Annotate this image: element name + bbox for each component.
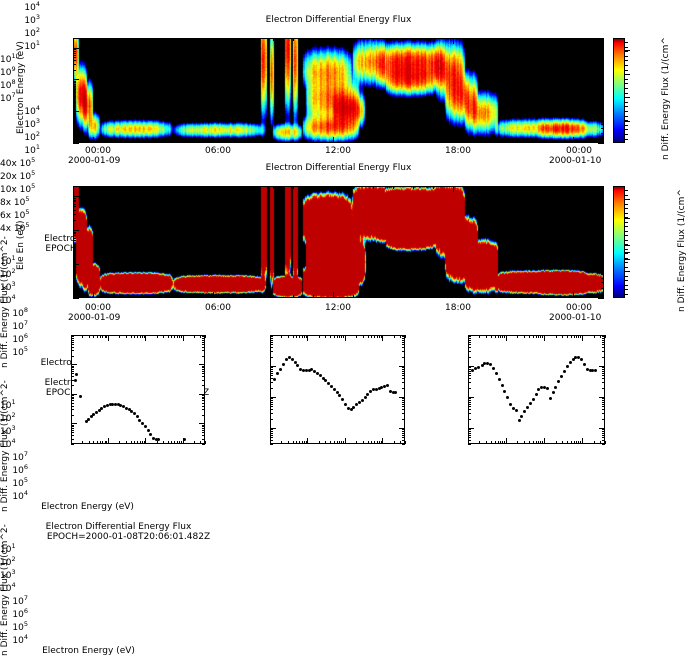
- data-point: [566, 365, 569, 368]
- mid-xtick-minor: [113, 295, 114, 298]
- mid-ytick-minor-tick-right: [601, 272, 604, 273]
- spectrum-3-xtick: [506, 438, 507, 444]
- mid-ytick-minor-tick-right: [601, 278, 604, 279]
- spectrum-3-xminor-top: [536, 335, 537, 338]
- spectrum-3-yminor: [468, 357, 471, 358]
- spectrum-1-yminor: [71, 336, 74, 337]
- data-point: [489, 363, 492, 366]
- spectrum-3-yminor-right: [602, 388, 605, 389]
- spectrum-2-yminor: [270, 419, 273, 420]
- spectrum-1-xminor-top: [89, 335, 90, 338]
- top-xtick-minor: [573, 140, 574, 143]
- spectrum-1-yminor: [71, 369, 74, 370]
- mid-ytick-minor-tick: [73, 235, 76, 236]
- top-colorbar-minor-tick: [625, 51, 628, 52]
- spectrum-3-yminor: [468, 419, 471, 420]
- spectrum-2-xminor-top: [394, 335, 395, 338]
- mid-xtick-minor-top: [213, 186, 214, 189]
- spectrum-1-plot[interactable]: [71, 335, 205, 444]
- top-ytick-minor-tick: [73, 70, 76, 71]
- spectrum-1-xminor: [93, 441, 94, 444]
- spectrum-3-yminor-right: [602, 404, 605, 405]
- spectrum-3-xminor-top: [495, 335, 496, 338]
- spectrum-3-yminor-right: [602, 369, 605, 370]
- spectrum-2-yminor-right: [402, 431, 405, 432]
- spectrum-2-yminor: [270, 375, 273, 376]
- mid-ytick-minor-tick: [73, 278, 76, 279]
- spectrum-3-xminor-top: [486, 335, 487, 338]
- top-colorbar-minor-tick: [625, 139, 628, 140]
- mid-xaxis-date-right: 2000-01-10: [549, 313, 601, 323]
- top-ytick-minor-tick-right: [601, 70, 604, 71]
- spectrum-3-yminor: [468, 375, 471, 376]
- spectrum-2-yminor-right: [402, 336, 405, 337]
- spectrum-1-xminor-top: [194, 335, 195, 338]
- mid-xtick-label-2: 12:00: [325, 303, 351, 313]
- spectrum-3-xminor-top: [540, 335, 541, 338]
- spectrum-2-xminor-top: [319, 335, 320, 338]
- spectrum-3-yminor-right: [602, 338, 605, 339]
- spectrum-3-xminor-top: [517, 335, 518, 338]
- spectrum-2-yminor-right: [402, 406, 405, 407]
- spectrum-3-plot[interactable]: [468, 335, 605, 444]
- top-ytick-minor-tick: [73, 53, 76, 54]
- spectrum-3-yminor: [468, 369, 471, 370]
- middle-colorbar-minor-tick: [625, 235, 628, 236]
- middle-colorbar-tick: [625, 245, 630, 246]
- spectrum-1-xminor-top: [102, 335, 103, 338]
- spectrum-1-yminor-right: [202, 350, 205, 351]
- spectrum-3-yminor: [468, 378, 471, 379]
- mid-ytick-minor-tick-right: [601, 204, 604, 205]
- mid-ytick-minor-tick: [73, 201, 76, 202]
- middle-colorbar-minor-tick: [625, 226, 628, 227]
- data-point: [273, 378, 276, 381]
- mid-xtick-minor-top: [233, 186, 234, 189]
- spectrum-3-xminor-top: [529, 335, 530, 338]
- spectrum-1-xminor: [177, 441, 178, 444]
- mid-xtick-minor: [573, 295, 574, 298]
- middle-colorbar-minor-tick: [625, 271, 628, 272]
- mid-ytick-minor-tick-right: [601, 232, 604, 233]
- data-point: [344, 403, 347, 406]
- spectrum-2-yminor: [270, 382, 273, 383]
- spectrum-1-xtick-top: [108, 335, 109, 341]
- spectrum-1-xtick: [183, 438, 184, 444]
- top-xtick-minor-top: [513, 38, 514, 41]
- mid-ytick-minor-tick: [73, 254, 76, 255]
- spectrum-2-yminor: [270, 404, 273, 405]
- spectrum-2-xminor-top: [371, 335, 372, 338]
- spectrum-3-xminor: [540, 441, 541, 444]
- spectrum-2-xminor-top: [334, 335, 335, 338]
- spectrum-3-xminor-top: [491, 335, 492, 338]
- spectrum-2-yminor: [270, 338, 273, 339]
- spectrum-3-xlabel: Electron Energy (eV): [0, 646, 177, 656]
- mid-ytick-minor-tick-right: [601, 201, 604, 202]
- spectrum-1-xminor-top: [163, 335, 164, 338]
- top-ytick-minor-tick-right: [601, 113, 604, 114]
- mid-xtick-minor-top: [453, 186, 454, 189]
- middle-colorbar[interactable]: [613, 186, 625, 298]
- spectrum-1-xminor-top: [157, 335, 158, 338]
- top-ytick-minor-tick-right: [601, 60, 604, 61]
- top-ytick-minor-tick: [73, 60, 76, 61]
- spectrum-3-subtitle: EPOCH=2000-01-08T20:06:01.482Z: [0, 532, 257, 542]
- mid-ytick-minor-tick-right: [601, 200, 604, 201]
- top-xtick-minor-top: [373, 38, 374, 41]
- data-point: [477, 366, 480, 369]
- spectrum-2-yminor-right: [402, 440, 405, 441]
- spectrum-2-yminor: [270, 437, 273, 438]
- top-xtick-minor: [233, 140, 234, 143]
- spectrum-1-xminor: [174, 441, 175, 444]
- spectrum-1-xminor: [134, 441, 135, 444]
- mid-ytick-minor-tick: [73, 240, 76, 241]
- middle-colorbar-label: n Diff. Energy Flux (1/(cm^: [677, 189, 687, 312]
- top-colorbar-minor-tick: [625, 47, 628, 48]
- spectrum-3-yminor-right: [602, 444, 605, 445]
- spectrum-2-yminor-right: [402, 409, 405, 410]
- data-point: [492, 367, 495, 370]
- spectrum-2-xminor-top: [281, 335, 282, 338]
- spectrum-1-xminor-top: [140, 335, 141, 338]
- top-panel-title: Electron Differential Energy Flux: [73, 15, 604, 25]
- top-ytick-minor-tick-right: [601, 55, 604, 56]
- mid-ytick-minor-tick: [73, 198, 76, 199]
- spectrum-1-yminor: [71, 347, 74, 348]
- mid-xtick-minor-top: [113, 186, 114, 189]
- spectrum-1-xminor: [105, 441, 106, 444]
- spectrum-2-yminor-right: [402, 373, 405, 374]
- spectrum-3-xminor: [500, 441, 501, 444]
- spectrum-2-yminor-right: [402, 351, 405, 352]
- spectrum-2-yminor-right: [402, 378, 405, 379]
- spectrum-3-yminor-right: [602, 413, 605, 414]
- data-point: [136, 415, 139, 418]
- middle-colorbar-minor-tick: [625, 240, 628, 241]
- spectrum-2-plot[interactable]: [270, 335, 405, 444]
- data-point: [549, 397, 552, 400]
- spectrum-2-xtick: [345, 438, 346, 444]
- spectrum-1-yminor-right: [202, 367, 205, 368]
- data-point: [361, 399, 364, 402]
- spectrum-1-xminor-top: [105, 335, 106, 338]
- mid-ytick-minor-tick-right: [601, 254, 604, 255]
- data-point: [495, 372, 498, 375]
- spectrum-3-yminor-right: [602, 342, 605, 343]
- spectrum-1-xminor: [205, 441, 206, 444]
- data-point: [518, 419, 521, 422]
- top-xtick-minor: [453, 140, 454, 143]
- spectrum-3-xminor-top: [594, 335, 595, 338]
- spectrum-2-xtick: [382, 438, 383, 444]
- spectrum-1-xminor: [137, 441, 138, 444]
- spectrum-3-yminor: [468, 404, 471, 405]
- mid-ytick-minor-tick: [73, 206, 76, 207]
- top-xtick-minor-top: [293, 38, 294, 41]
- data-point: [394, 391, 397, 394]
- spectrum-3-xminor: [605, 441, 606, 444]
- spectrum-2-xminor-top: [337, 335, 338, 338]
- mid-xtick-minor-top: [193, 186, 194, 189]
- top-ytick-minor-tick-right: [601, 89, 604, 90]
- spectrum-2-yminor-right: [402, 344, 405, 345]
- mid-xtick-minor-top: [373, 186, 374, 189]
- spectrum-1-yminor-right: [202, 373, 205, 374]
- mid-ytick-minor-tick: [73, 282, 76, 283]
- top-xtick-minor-top: [533, 38, 534, 41]
- spectrum-3-xminor: [502, 441, 503, 444]
- spectrum-1-yminor: [71, 371, 74, 372]
- spectrum-1-yminor-right: [202, 366, 205, 367]
- middle-colorbar-minor-tick: [625, 217, 628, 218]
- top-xtick-minor: [433, 140, 434, 143]
- spectrum-3-xminor: [495, 441, 496, 444]
- mid-xtick-minor: [533, 295, 534, 298]
- spectrum-3-yminor: [468, 398, 471, 399]
- spectrum-3-title: Electron Differential Energy Flux: [0, 522, 237, 532]
- data-point: [546, 387, 549, 390]
- top-colorbar-minor-tick: [625, 79, 628, 80]
- spectrum-1-yminor: [71, 398, 74, 399]
- middle-colorbar-minor-tick: [625, 231, 628, 232]
- spectrum-2-yminor: [270, 367, 273, 368]
- top-colorbar-minor-tick: [625, 116, 628, 117]
- spectrum-3-xminor-top: [574, 335, 575, 338]
- spectrum-3-yminor-right: [602, 440, 605, 441]
- spectrum-1-yminor: [71, 380, 74, 381]
- mid-ytick-minor-tick: [73, 266, 76, 267]
- top-xtick-minor: [133, 140, 134, 143]
- spectrum-3-xminor: [567, 441, 568, 444]
- spectrum-2-yminor-right: [402, 433, 405, 434]
- top-ytick-minor-tick: [73, 118, 76, 119]
- top-ytick-minor-tick-right: [601, 116, 604, 117]
- spectrum-2-xminor-top: [374, 335, 375, 338]
- spectrum-1-yminor-right: [202, 439, 205, 440]
- top-xtick-minor-top: [113, 38, 114, 41]
- top-ytick-minor-tick-right: [601, 96, 604, 97]
- spectrum-3-xminor: [498, 441, 499, 444]
- mid-xtick-minor: [433, 295, 434, 298]
- spectrum-3-yminor: [468, 344, 471, 345]
- top-colorbar-minor-tick: [625, 56, 628, 57]
- spectrum-2-xminor-top: [363, 335, 364, 338]
- spectrum-2-yminor: [270, 342, 273, 343]
- top-ytick-minor-tick: [73, 89, 76, 90]
- spectrum-3-yminor: [468, 373, 471, 374]
- top-xtick-minor: [173, 140, 174, 143]
- top-xtick-minor-top: [233, 38, 234, 41]
- top-xtick-minor: [153, 140, 154, 143]
- mid-ytick-minor-tick: [73, 274, 76, 275]
- top-xtick-minor: [93, 140, 94, 143]
- spectrum-3-yminor-right: [602, 378, 605, 379]
- middle-colorbar-minor-tick: [625, 289, 628, 290]
- top-ytick-minor-tick-right: [601, 121, 604, 122]
- data-point: [554, 386, 557, 389]
- mid-ytick-minor-tick-right: [601, 282, 604, 283]
- spectrum-3-xminor: [578, 441, 579, 444]
- mid-xtick-minor: [453, 295, 454, 298]
- mid-ytick-minor-tick-right: [601, 267, 604, 268]
- spectrum-1-xminor-top: [177, 335, 178, 338]
- spectrum-1-yminor-right: [202, 406, 205, 407]
- spectrum-3-xminor: [536, 441, 537, 444]
- spectrum-1-yminor: [71, 426, 74, 427]
- data-point: [520, 415, 523, 418]
- mid-ytick-minor-tick-right: [601, 238, 604, 239]
- mid-xtick-minor-top: [473, 186, 474, 189]
- spectrum-3-yminor: [468, 406, 471, 407]
- top-xtick-minor-top: [433, 38, 434, 41]
- spectrum-1-yminor-right: [202, 338, 205, 339]
- spectrum-1-yminor: [71, 356, 74, 357]
- spectrum-1-xminor: [119, 441, 120, 444]
- spectrum-1-yminor: [71, 409, 74, 410]
- data-point: [144, 425, 147, 428]
- top-colorbar-minor-tick: [625, 65, 628, 66]
- top-ytick-minor-tick: [73, 113, 76, 114]
- data-point: [285, 358, 288, 361]
- spectrum-3-xtick-label-0: 101: [0, 542, 697, 555]
- spectrum-3-xminor-top: [500, 335, 501, 338]
- spectrum-2-yminor-right: [402, 413, 405, 414]
- mid-xtick-minor: [133, 295, 134, 298]
- spectrum-2-xminor-top: [405, 335, 406, 338]
- spectrum-2-xminor: [405, 441, 406, 444]
- mid-ytick-minor-tick-right: [601, 220, 604, 221]
- data-point: [498, 378, 501, 381]
- spectrum-3-xminor: [479, 441, 480, 444]
- top-colorbar-minor-tick: [625, 97, 628, 98]
- spectrum-1-yminor: [71, 397, 74, 398]
- data-point: [563, 370, 566, 373]
- middle-colorbar-minor-tick: [625, 262, 628, 263]
- spectrum-2-yminor-right: [402, 338, 405, 339]
- mid-xtick-minor-top: [313, 186, 314, 189]
- spectrum-1-xminor-top: [168, 335, 169, 338]
- middle-colorbar-minor-tick: [625, 204, 628, 205]
- mid-ytick-minor-tick: [73, 200, 76, 201]
- spectrum-1-yminor-right: [202, 344, 205, 345]
- mid-panel-ylabel: Ele En (eV): [16, 220, 26, 270]
- mid-ytick-minor-tick-right: [601, 210, 604, 211]
- middle-colorbar-minor-tick: [625, 258, 628, 259]
- spectrum-2-xminor-top: [296, 335, 297, 338]
- spectrum-1-yminor-right: [202, 400, 205, 401]
- top-spectrogram-plot[interactable]: [73, 38, 604, 143]
- mid-xtick-minor-top: [293, 186, 294, 189]
- mid-xtick-minor: [253, 295, 254, 298]
- middle-spectrogram-plot[interactable]: [73, 186, 604, 298]
- mid-ytick-minor-tick: [73, 248, 76, 249]
- spectrum-2-yminor: [270, 388, 273, 389]
- spectrum-2-yminor-right: [402, 375, 405, 376]
- spectrum-1-yminor: [71, 376, 74, 377]
- top-ytick-major-tick: [73, 143, 79, 144]
- spectrum-2-yminor-right: [402, 342, 405, 343]
- spectrum-1-yminor: [71, 373, 74, 374]
- spectrum-1-xminor: [142, 441, 143, 444]
- top-ytick-minor-tick: [73, 57, 76, 58]
- mid-ytick-minor-tick-right: [601, 206, 604, 207]
- spectrum-1-xtick-top: [183, 335, 184, 341]
- spectrum-1-yminor-right: [202, 347, 205, 348]
- spectrum-3-yminor: [468, 440, 471, 441]
- data-point: [526, 406, 529, 409]
- spectrum-2-yminor-right: [402, 444, 405, 445]
- spectrum-1-xminor-top: [179, 335, 180, 338]
- spectrum-3-yminor: [468, 347, 471, 348]
- middle-colorbar-minor-tick: [625, 294, 628, 295]
- spectrum-2-xminor: [296, 441, 297, 444]
- spectrum-3-yminor: [468, 431, 471, 432]
- spectrum-1-xminor-top: [93, 335, 94, 338]
- spectrum-1-yminor: [71, 403, 74, 404]
- spectrum-1-yminor-right: [202, 435, 205, 436]
- top-xtick-label-0: 00:00: [85, 146, 111, 156]
- mid-xtick-minor: [393, 295, 394, 298]
- mid-ytick-minor-tick-right: [601, 233, 604, 234]
- mid-xtick-minor-top: [153, 186, 154, 189]
- top-ytick-minor-tick-right: [601, 49, 604, 50]
- mid-xaxis-date-left: 2000-01-09: [68, 313, 120, 323]
- spectrum-3-xtick-top: [544, 335, 545, 341]
- top-xtick-minor-top: [413, 38, 414, 41]
- data-point: [338, 394, 341, 397]
- spectrum-3-yminor-right: [602, 347, 605, 348]
- spectrum-3-xtick: [544, 438, 545, 444]
- mid-ytick-minor-tick-right: [601, 235, 604, 236]
- top-ytick-minor-tick: [73, 128, 76, 129]
- mid-xtick-minor-top: [593, 186, 594, 189]
- top-ytick-minor-tick: [73, 84, 76, 85]
- top-colorbar[interactable]: [613, 38, 625, 143]
- data-point: [79, 395, 82, 398]
- top-colorbar-minor-tick: [625, 60, 628, 61]
- mid-ytick-minor-tick-right: [601, 269, 604, 270]
- top-ytick-minor-tick-right: [601, 118, 604, 119]
- spectrum-2-xminor: [288, 441, 289, 444]
- spectrum-3-yminor-right: [602, 400, 605, 401]
- spectrum-3-xminor-top: [576, 335, 577, 338]
- spectrum-3-yminor: [468, 367, 471, 368]
- top-colorbar-minor-tick: [625, 83, 628, 84]
- top-colorbar-minor-tick: [625, 70, 628, 71]
- mid-xtick-minor: [93, 295, 94, 298]
- spectrum-1-xminor-top: [131, 335, 132, 338]
- mid-ytick-minor-tick: [73, 233, 76, 234]
- mid-xtick-minor: [413, 295, 414, 298]
- data-point: [366, 393, 369, 396]
- spectrum-2-yminor: [270, 433, 273, 434]
- spectrum-2-xminor-top: [339, 335, 340, 338]
- mid-xtick-minor: [493, 295, 494, 298]
- spectrum-2-yminor: [270, 400, 273, 401]
- spectrum-3-yminor: [468, 400, 471, 401]
- spectrum-2-yminor-right: [402, 367, 405, 368]
- spectrum-3-yminor-right: [602, 419, 605, 420]
- mid-ytick-minor-tick: [73, 220, 76, 221]
- spectrum-3-xtick-top: [582, 335, 583, 341]
- top-xtick-minor-top: [493, 38, 494, 41]
- spectrum-1-xminor: [100, 441, 101, 444]
- data-point: [532, 398, 535, 401]
- top-colorbar-minor-tick: [625, 93, 628, 94]
- spectrum-1-yminor: [71, 342, 74, 343]
